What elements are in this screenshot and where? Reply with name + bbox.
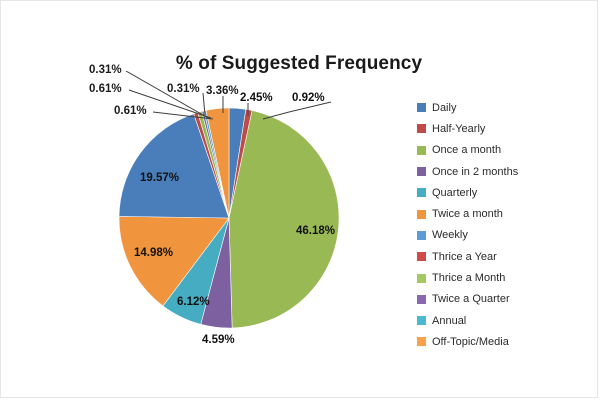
legend-color-swatch-icon — [417, 231, 426, 240]
legend-color-swatch-icon — [417, 316, 426, 325]
legend-item-label: Annual — [432, 315, 466, 327]
legend-item[interactable]: Twice a month — [417, 203, 593, 224]
pie-slice-value-label: 2.45% — [240, 92, 273, 104]
pie-slice-value-label: 0.92% — [292, 92, 325, 104]
legend-item-label: Once a month — [432, 144, 501, 156]
legend-item-label: Off-Topic/Media — [432, 336, 509, 348]
legend-item[interactable]: Once a month — [417, 140, 593, 161]
legend-item[interactable]: Twice a Quarter — [417, 289, 593, 310]
legend-item-label: Twice a month — [432, 208, 503, 220]
legend-color-swatch-icon — [417, 124, 426, 133]
legend-item[interactable]: Once in 2 months — [417, 161, 593, 182]
legend-item-label: Once in 2 months — [432, 166, 518, 178]
pie-slice-value-label: 14.98% — [134, 247, 173, 259]
legend-color-swatch-icon — [417, 146, 426, 155]
legend-color-swatch-icon — [417, 188, 426, 197]
legend-item[interactable]: Annual — [417, 310, 593, 331]
chart-container: % of Suggested Frequency 46.18%19.57%14.… — [0, 0, 598, 398]
legend-item-label: Weekly — [432, 229, 468, 241]
legend-color-swatch-icon — [417, 210, 426, 219]
legend-item-label: Thrice a Month — [432, 272, 505, 284]
legend-item[interactable]: Off-Topic/Media — [417, 331, 593, 352]
pie-slice-value-label: 19.57% — [140, 172, 179, 184]
legend-item-label: Thrice a Year — [432, 251, 497, 263]
pie-slice-callout-label: 3.36% — [206, 85, 239, 97]
legend-item[interactable]: Thrice a Month — [417, 267, 593, 288]
pie-slices-group — [119, 108, 339, 328]
legend-color-swatch-icon — [417, 167, 426, 176]
pie-slice-value-label: 4.59% — [202, 334, 235, 346]
legend-item-label: Daily — [432, 102, 456, 114]
pie-slice-value-label: 6.12% — [177, 296, 210, 308]
legend-color-swatch-icon — [417, 252, 426, 261]
leader-line — [263, 102, 331, 119]
legend-item[interactable]: Weekly — [417, 225, 593, 246]
pie-slice[interactable] — [229, 110, 339, 328]
pie-slice-callout-label: 0.31% — [167, 83, 200, 95]
legend-color-swatch-icon — [417, 337, 426, 346]
legend-item[interactable]: Half-Yearly — [417, 118, 593, 139]
pie-slice-callout-label: 0.61% — [114, 105, 147, 117]
legend-item-label: Quarterly — [432, 187, 477, 199]
legend-item-label: Twice a Quarter — [432, 293, 510, 305]
pie-slice-callout-label: 0.31% — [89, 64, 122, 76]
legend-color-swatch-icon — [417, 103, 426, 112]
legend-item[interactable]: Thrice a Year — [417, 246, 593, 267]
pie-slice-value-label: 46.18% — [296, 225, 335, 237]
legend-color-swatch-icon — [417, 274, 426, 283]
pie-plot-area: 46.18%19.57%14.98%6.12%4.59%2.45%0.92% 0… — [1, 1, 411, 399]
legend-item-label: Half-Yearly — [432, 123, 485, 135]
legend-item[interactable]: Quarterly — [417, 182, 593, 203]
legend-color-swatch-icon — [417, 295, 426, 304]
chart-legend: DailyHalf-YearlyOnce a monthOnce in 2 mo… — [417, 97, 593, 353]
pie-slice-callout-label: 0.61% — [89, 83, 122, 95]
legend-item[interactable]: Daily — [417, 97, 593, 118]
